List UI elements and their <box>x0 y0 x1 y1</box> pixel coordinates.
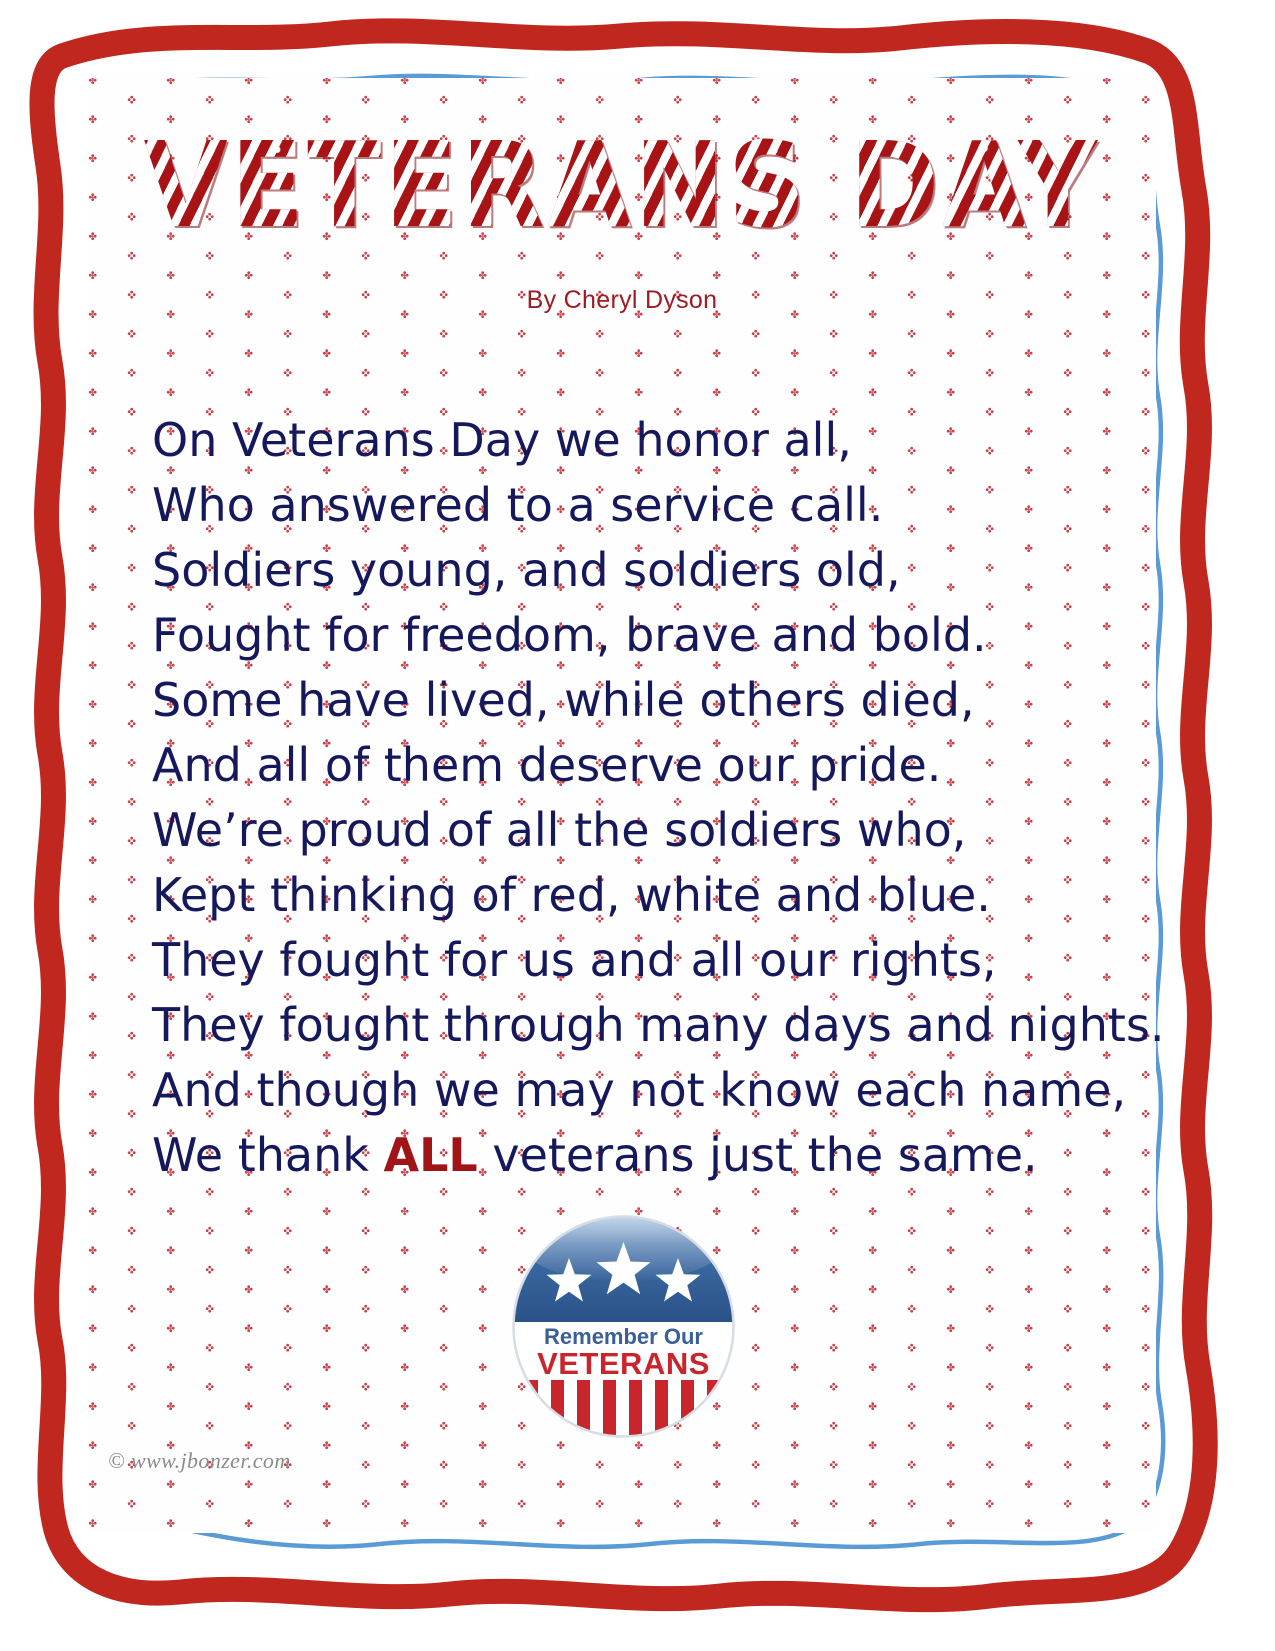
poem-text-segment: We thank <box>152 1128 384 1182</box>
poem-line: Soldiers young, and soldiers old, <box>152 538 1142 603</box>
veterans-day-poem-poster: VETERANS DAY By Cheryl Dyson On Veterans… <box>0 0 1275 1651</box>
badge-line2-text: VETERANS <box>537 1346 710 1381</box>
poem-line-final: We thank ALL veterans just the same. <box>152 1123 1142 1188</box>
poster-content: VETERANS DAY By Cheryl Dyson On Veterans… <box>88 78 1156 1533</box>
poem-line: Who answered to a service call. <box>152 473 1142 538</box>
remember-our-veterans-badge: Remember Our VETERANS <box>511 1214 736 1439</box>
poem-line: And all of them deserve our pride. <box>152 733 1142 798</box>
poem-text-segment: veterans just the same. <box>478 1128 1038 1182</box>
title-block: VETERANS DAY <box>88 126 1156 244</box>
poem-body: On Veterans Day we honor all, Who answer… <box>152 408 1142 1188</box>
copyright-notice: © www.jbonzer.com <box>108 1448 291 1474</box>
poem-line: On Veterans Day we honor all, <box>152 408 1142 473</box>
poem-line: Some have lived, while others died, <box>152 668 1142 733</box>
poem-line: Kept thinking of red, white and blue. <box>152 863 1142 928</box>
poem-line: Fought for freedom, brave and bold. <box>152 603 1142 668</box>
poem-emphasis-all: ALL <box>384 1128 478 1182</box>
author-byline: By Cheryl Dyson <box>88 286 1156 315</box>
poem-line: And though we may not know each name, <box>152 1058 1142 1123</box>
page-title: VETERANS DAY <box>144 126 1100 244</box>
poem-line: We’re proud of all the soldiers who, <box>152 798 1142 863</box>
poem-line: They fought for us and all our rights, <box>152 928 1142 993</box>
poem-line: They fought through many days and nights… <box>152 993 1142 1058</box>
